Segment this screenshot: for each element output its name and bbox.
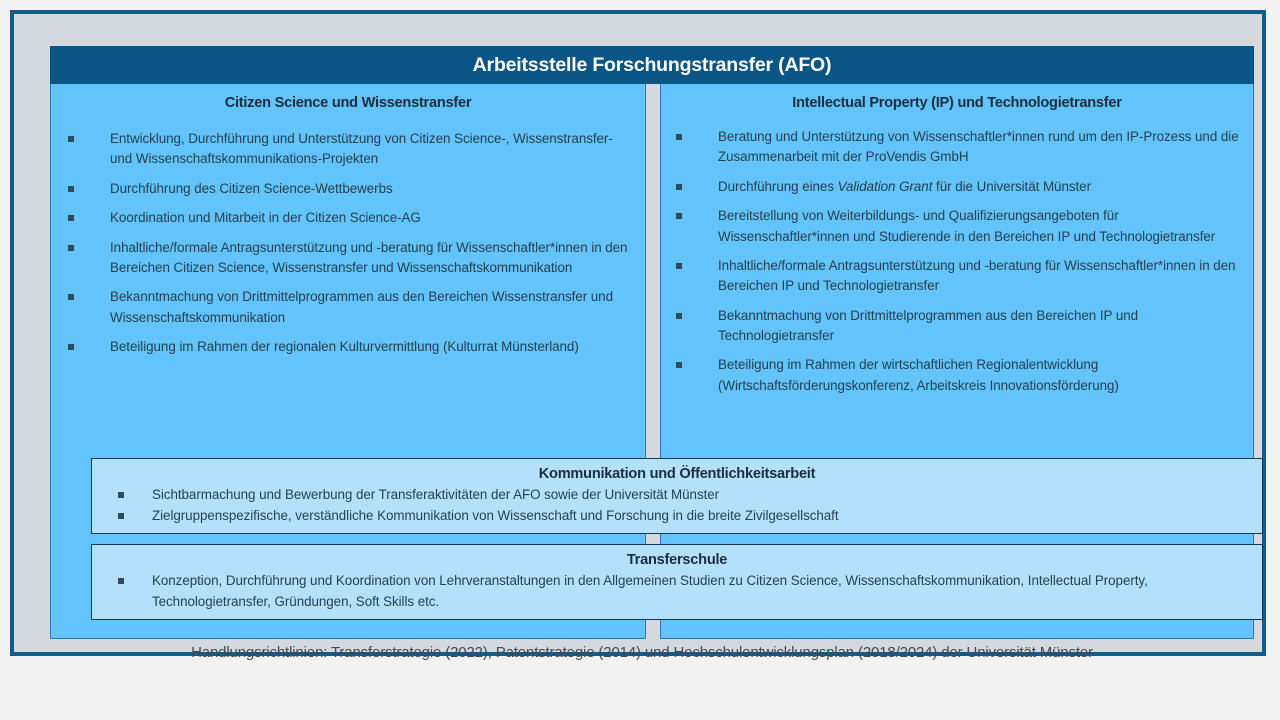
list-item: Konzeption, Durchführung und Koordinatio… (102, 571, 1252, 612)
box-title-transferschule: Transferschule (92, 545, 1262, 568)
footer-guidelines: Handlungsrichtlinien: Transferstrategie … (40, 644, 1244, 661)
list-item: Beteiligung im Rahmen der wirtschaftlich… (671, 355, 1245, 396)
list-item: Sichtbarmachung und Bewerbung der Transf… (102, 485, 1252, 506)
box-list-transferschule: Konzeption, Durchführung und Koordinatio… (102, 571, 1252, 612)
diagram-frame: Arbeitsstelle Forschungstransfer (AFO) C… (10, 10, 1266, 656)
column-list-citizen-science: Entwicklung, Durchführung und Unterstütz… (63, 129, 637, 357)
list-item: Bekanntmachung von Drittmittelprogrammen… (671, 306, 1245, 347)
list-item: Durchführung des Citizen Science-Wettbew… (63, 179, 637, 199)
column-title-citizen-science: Citizen Science und Wissenstransfer (51, 84, 645, 111)
box-list-kommunikation: Sichtbarmachung und Bewerbung der Transf… (102, 485, 1252, 526)
list-item: Beteiligung im Rahmen der regionalen Kul… (63, 337, 637, 357)
diagram-stage: Arbeitsstelle Forschungstransfer (AFO) C… (40, 36, 1244, 618)
list-item: Bereitstellung von Weiterbildungs- und Q… (671, 206, 1245, 247)
list-item: Zielgruppenspezifische, verständliche Ko… (102, 506, 1252, 527)
box-kommunikation: Kommunikation und Öffentlichkeitsarbeit … (91, 458, 1263, 534)
diagram-title-banner: Arbeitsstelle Forschungstransfer (AFO) (50, 46, 1254, 84)
list-item: Entwicklung, Durchführung und Unterstütz… (63, 129, 637, 170)
column-title-intellectual-property: Intellectual Property (IP) und Technolog… (661, 84, 1253, 111)
list-item: Inhaltliche/formale Antragsunterstützung… (671, 256, 1245, 297)
list-item: Koordination und Mitarbeit in der Citize… (63, 208, 637, 228)
column-list-intellectual-property: Beratung und Unterstützung von Wissensch… (671, 127, 1245, 396)
list-item: Bekanntmachung von Drittmittelprogrammen… (63, 287, 637, 328)
box-title-kommunikation: Kommunikation und Öffentlichkeitsarbeit (92, 459, 1262, 482)
list-item: Durchführung eines Validation Grant für … (671, 177, 1245, 197)
list-item: Beratung und Unterstützung von Wissensch… (671, 127, 1245, 168)
page-title: Arbeitsstelle Forschungstransfer (AFO) (473, 54, 832, 77)
box-transferschule: Transferschule Konzeption, Durchführung … (91, 544, 1263, 620)
list-item: Inhaltliche/formale Antragsunterstützung… (63, 238, 637, 279)
